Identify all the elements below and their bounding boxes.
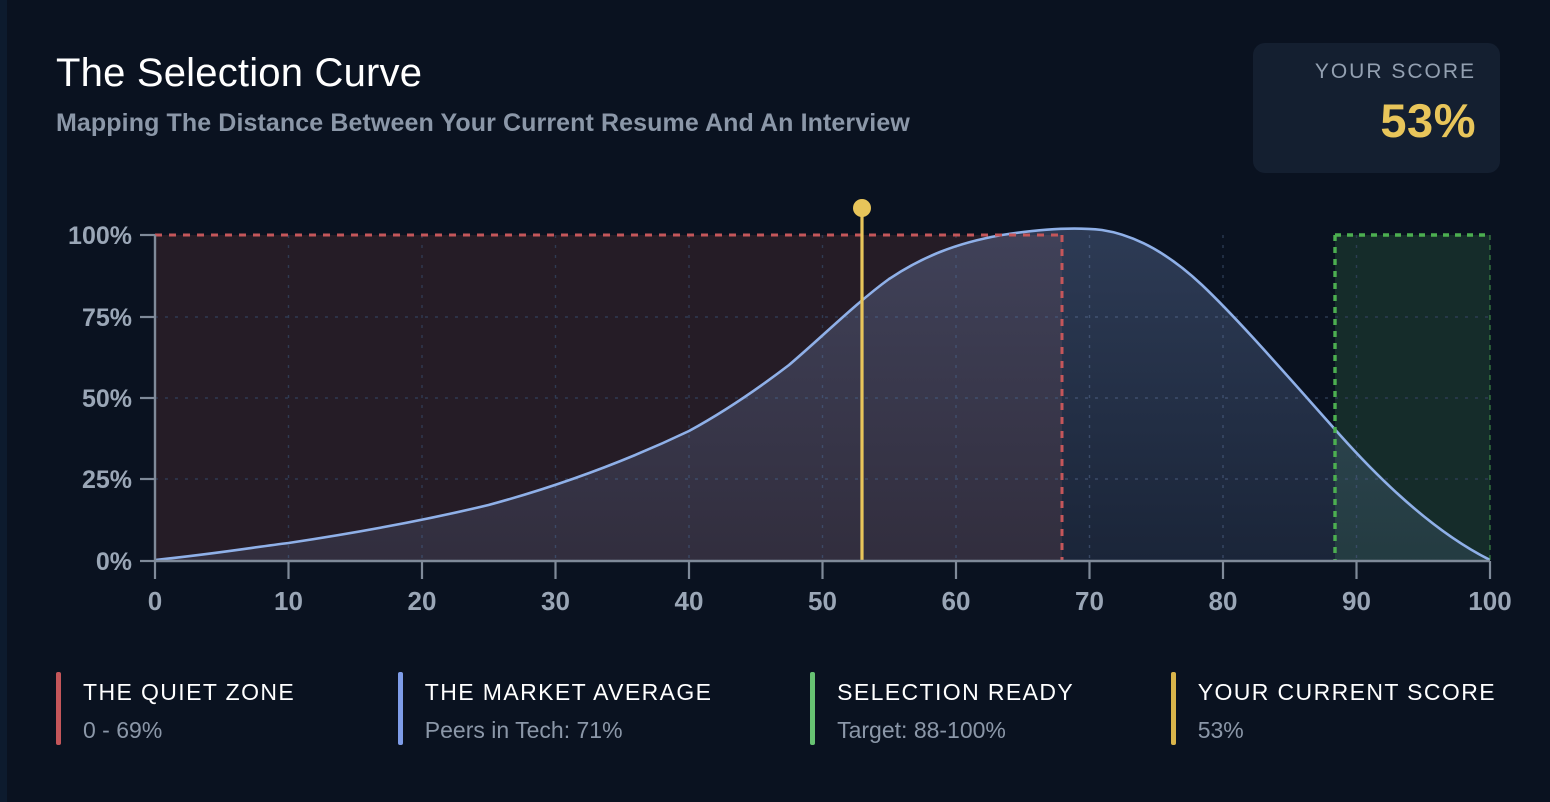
legend-item-subtitle: 0 - 69% — [83, 718, 295, 743]
legend-item-quiet-zone: THE QUIET ZONE 0 - 69% — [56, 672, 398, 745]
legend-item-text: THE MARKET AVERAGE Peers in Tech: 71% — [425, 672, 713, 744]
x-tick-label: 100 — [1468, 586, 1511, 616]
legend-item-your-current-score: YOUR CURRENT SCORE 53% — [1171, 672, 1536, 745]
legend-item-title: THE QUIET ZONE — [83, 680, 295, 705]
x-tick-label: 80 — [1209, 586, 1238, 616]
y-axis-ticks — [140, 235, 155, 561]
legend-color-swatch — [1171, 672, 1176, 745]
legend-item-subtitle: 53% — [1198, 718, 1496, 743]
legend-item-subtitle: Peers in Tech: 71% — [425, 718, 713, 743]
x-axis-ticks — [155, 561, 1490, 579]
legend-item-text: YOUR CURRENT SCORE 53% — [1198, 672, 1496, 744]
chart-area: 0% 25% 50% 75% 100% 0 — [0, 185, 1550, 625]
x-tick-label: 20 — [408, 586, 437, 616]
legend-item-selection-ready: SELECTION READY Target: 88-100% — [810, 672, 1171, 745]
score-badge-value: 53% — [1253, 96, 1476, 145]
y-tick-label: 50% — [82, 385, 132, 413]
x-tick-label: 90 — [1342, 586, 1371, 616]
x-tick-label: 0 — [148, 586, 162, 616]
selection-curve-infographic: The Selection Curve Mapping The Distance… — [0, 0, 1550, 802]
legend-color-swatch — [56, 672, 61, 745]
x-tick-label: 40 — [675, 586, 704, 616]
score-badge: YOUR SCORE 53% — [1253, 43, 1500, 173]
x-tick-label: 10 — [274, 586, 303, 616]
page-title: The Selection Curve — [56, 52, 1236, 95]
legend-item-market-average: THE MARKET AVERAGE Peers in Tech: 71% — [398, 672, 810, 745]
y-tick-label: 25% — [82, 466, 132, 494]
y-tick-label: 0% — [96, 548, 132, 576]
x-axis-tick-labels: 0 10 20 30 40 50 60 70 80 90 100 — [148, 586, 1512, 616]
chart-legend: THE QUIET ZONE 0 - 69% THE MARKET AVERAG… — [56, 672, 1536, 745]
your-score-dot — [853, 199, 871, 217]
score-badge-label: YOUR SCORE — [1253, 61, 1476, 82]
legend-item-title: YOUR CURRENT SCORE — [1198, 680, 1496, 705]
x-tick-label: 30 — [541, 586, 570, 616]
legend-color-swatch — [810, 672, 815, 745]
y-axis-tick-labels: 0% 25% 50% 75% 100% — [68, 222, 132, 576]
x-tick-label: 50 — [808, 586, 837, 616]
x-tick-label: 70 — [1075, 586, 1104, 616]
legend-item-text: SELECTION READY Target: 88-100% — [837, 672, 1074, 744]
y-tick-label: 75% — [82, 304, 132, 332]
page-subtitle: Mapping The Distance Between Your Curren… — [56, 109, 1236, 138]
header: The Selection Curve Mapping The Distance… — [56, 52, 1236, 138]
y-tick-label: 100% — [68, 222, 132, 250]
legend-color-swatch — [398, 672, 403, 745]
selection-curve-chart: 0% 25% 50% 75% 100% 0 — [0, 185, 1550, 625]
legend-item-subtitle: Target: 88-100% — [837, 718, 1074, 743]
legend-item-text: THE QUIET ZONE 0 - 69% — [83, 672, 295, 744]
legend-item-title: THE MARKET AVERAGE — [425, 680, 713, 705]
legend-item-title: SELECTION READY — [837, 680, 1074, 705]
x-tick-label: 60 — [942, 586, 971, 616]
